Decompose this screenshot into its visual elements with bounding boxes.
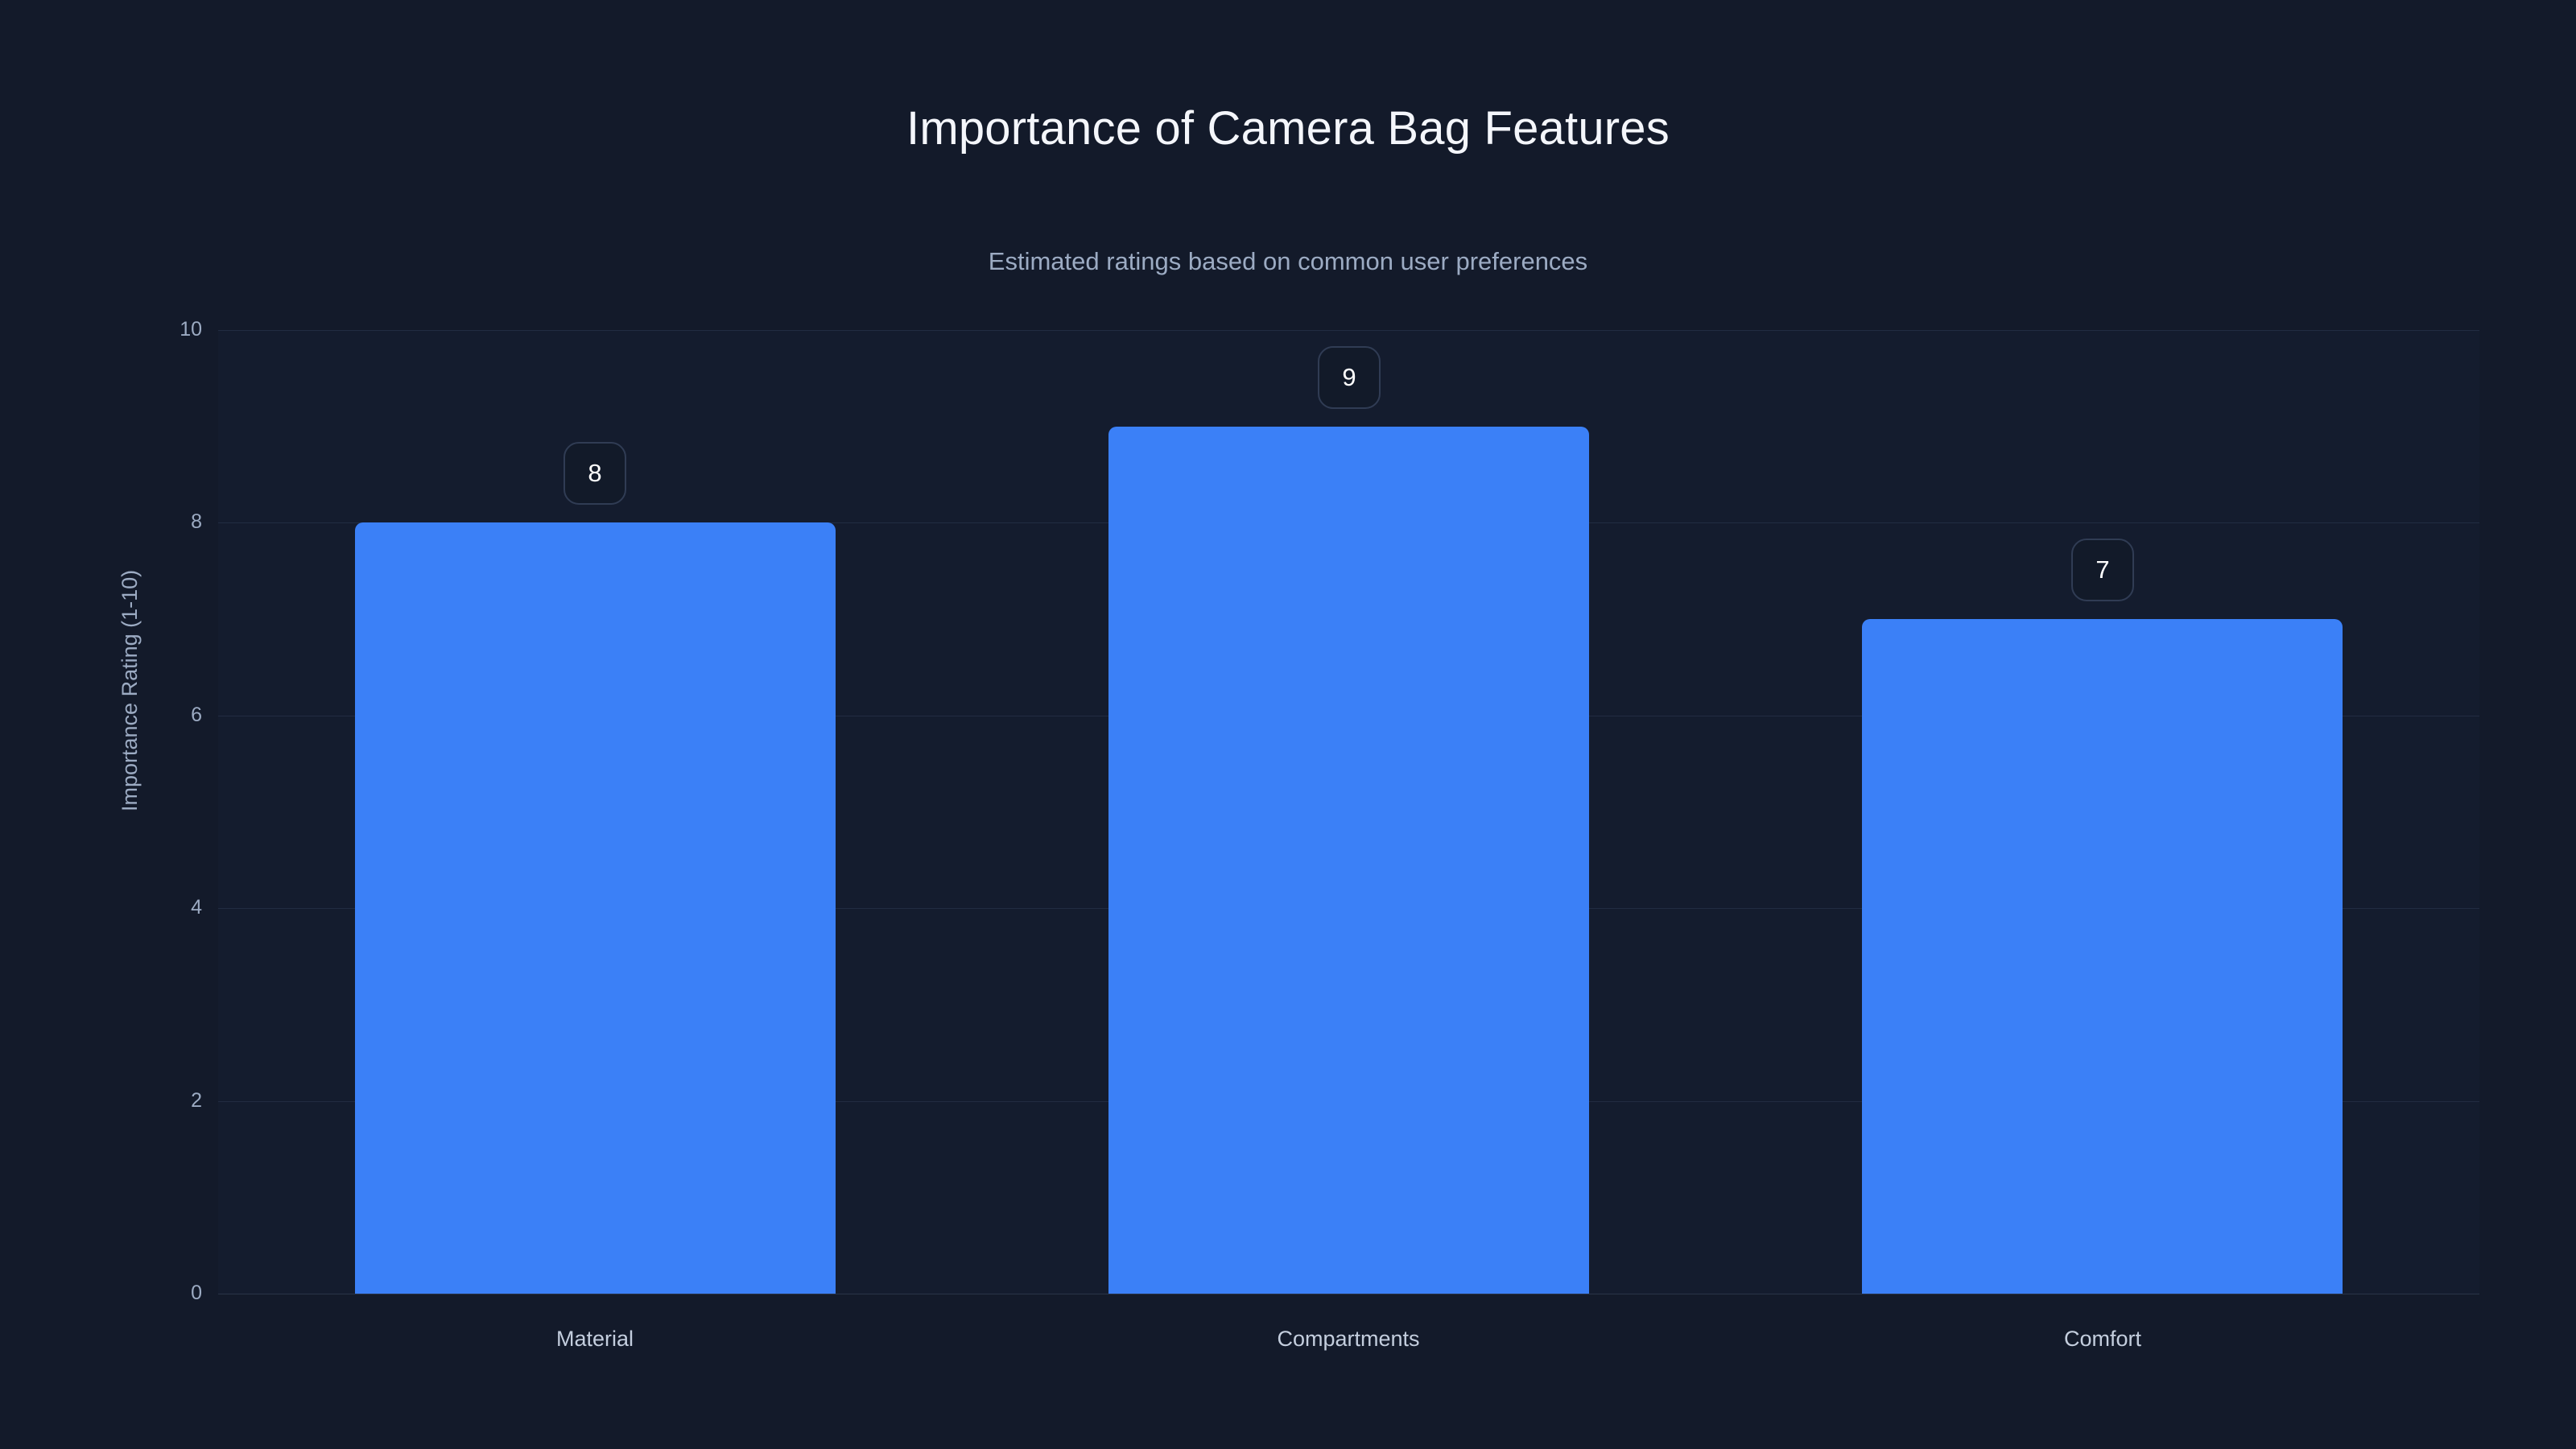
bar[interactable]	[355, 522, 836, 1294]
y-axis-tick-label: 4	[114, 898, 202, 918]
bar-value-label: 8	[563, 442, 626, 505]
y-axis-tick-label: 10	[114, 320, 202, 340]
x-axis-tick-label: Comfort	[1726, 1328, 2479, 1350]
y-axis-title: Importance Rating (1-10)	[119, 570, 141, 811]
bar[interactable]	[1108, 427, 1589, 1294]
gridline-y-0	[218, 1294, 2479, 1294]
gridline-y-10	[218, 330, 2479, 331]
y-axis-tick-label: 8	[114, 512, 202, 532]
y-axis-tick-label: 0	[114, 1283, 202, 1303]
bar-value-label: 7	[2071, 539, 2134, 601]
bar-chart-figure: Importance of Camera Bag Features Estima…	[0, 0, 2576, 1449]
y-axis-tick-label: 2	[114, 1091, 202, 1111]
bar-value-label: 9	[1318, 346, 1381, 409]
chart-subtitle: Estimated ratings based on common user p…	[0, 248, 2576, 275]
x-axis-tick-label: Compartments	[972, 1328, 1725, 1350]
x-axis-tick-label: Material	[218, 1328, 972, 1350]
chart-title: Importance of Camera Bag Features	[0, 103, 2576, 155]
bar[interactable]	[1862, 619, 2343, 1294]
y-axis-tick-label: 6	[114, 705, 202, 725]
